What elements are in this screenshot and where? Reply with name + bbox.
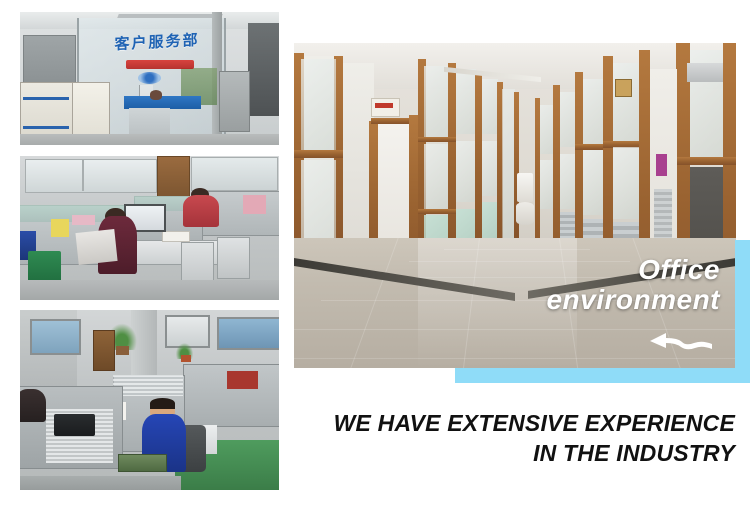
page-root: 客户服务部 (0, 0, 750, 510)
headline-text: WE HAVE EXTENSIVE EXPERIENCE IN THE INDU… (300, 408, 735, 468)
overlay-title: Office environment (430, 255, 720, 315)
overlay-title-line2: environment (430, 285, 720, 315)
corridor-photo (294, 43, 736, 368)
open-office-photo (20, 156, 279, 300)
cubicle-worker-photo (20, 310, 279, 490)
thumbnail-cubicle-worker[interactable] (20, 310, 279, 490)
reception-photo: 客户服务部 (20, 12, 279, 145)
thumbnail-reception[interactable]: 客户服务部 (20, 12, 279, 145)
accent-band-vertical (735, 240, 750, 383)
wavy-left-arrow-icon (648, 332, 714, 354)
headline-line1: WE HAVE EXTENSIVE EXPERIENCE (300, 408, 735, 438)
main-photo-corridor[interactable] (294, 43, 736, 368)
overlay-title-line1: Office (430, 255, 720, 285)
accent-band-horizontal (455, 368, 750, 383)
headline-line2: IN THE INDUSTRY (300, 438, 735, 468)
thumbnail-open-office[interactable] (20, 156, 279, 300)
